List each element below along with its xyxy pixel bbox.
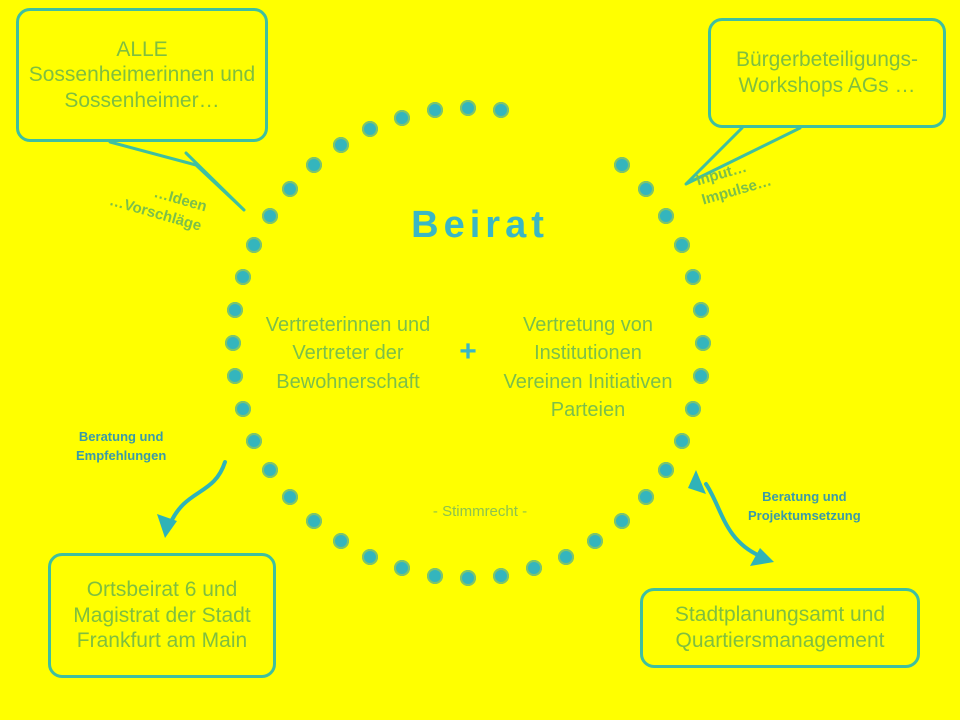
ring-dot <box>235 401 251 417</box>
ring-dot <box>333 137 349 153</box>
box-ortsbeirat-label: Ortsbeirat 6 und Magistrat der Stadt Fra… <box>51 575 273 656</box>
ring-dot <box>674 433 690 449</box>
ring-dot <box>460 100 476 116</box>
ring-dot <box>614 157 630 173</box>
box-stadtplanungsamt[interactable]: Stadtplanungsamt und Quartiersmanagement <box>640 588 920 668</box>
arrowhead-ring-side <box>688 470 706 494</box>
box-ortsbeirat[interactable]: Ortsbeirat 6 und Magistrat der Stadt Fra… <box>48 553 276 678</box>
column-bewohnerschaft: Vertreterinnen und Vertreter der Bewohne… <box>262 311 434 396</box>
ring-dot <box>695 335 711 351</box>
arrowhead-box-side <box>750 548 774 566</box>
diagram-canvas: Beirat Vertreterinnen und Vertreter der … <box>0 0 960 720</box>
ring-dot <box>333 533 349 549</box>
center-columns: Vertreterinnen und Vertreter der Bewohne… <box>262 311 674 425</box>
annotation-beratung-projektumsetzung: Beratung undProjektumsetzung <box>748 488 861 526</box>
ring-dot <box>362 549 378 565</box>
ring-dot <box>427 568 443 584</box>
box-stadtplanungsamt-label: Stadtplanungsamt und Quartiersmanagement <box>643 600 917 655</box>
ring-dot <box>225 335 241 351</box>
ring-dot <box>685 269 701 285</box>
ring-dot <box>493 102 509 118</box>
ring-dot <box>493 568 509 584</box>
ring-dot <box>246 433 262 449</box>
ring-dot <box>558 549 574 565</box>
annotation-beratung-empfehlungen: Beratung undEmpfehlungen <box>76 428 166 466</box>
callout-residents[interactable]: ALLE Sossenheimerinnen und Sossenheimer… <box>16 8 268 142</box>
callout-workshops-label: Bürgerbeteiligungs- Workshops AGs … <box>711 45 943 100</box>
ring-dot <box>693 302 709 318</box>
callout-workshops[interactable]: Bürgerbeteiligungs- Workshops AGs … <box>708 18 946 128</box>
ring-dot <box>235 269 251 285</box>
annotation-input-impulse: Input…Impulse… <box>694 152 774 211</box>
ring-dot <box>460 570 476 586</box>
ring-dot <box>227 302 243 318</box>
ring-dot <box>394 110 410 126</box>
ring-dot <box>306 157 322 173</box>
ring-dot <box>282 181 298 197</box>
column-institutionen: Vertretung von Institutionen Vereinen In… <box>502 311 674 425</box>
ring-dot <box>362 121 378 137</box>
ring-dot <box>427 102 443 118</box>
ring-dot <box>685 401 701 417</box>
callout-residents-label: ALLE Sossenheimerinnen und Sossenheimer… <box>19 35 265 116</box>
ring-dot <box>658 462 674 478</box>
ring-dot <box>526 560 542 576</box>
ring-dot <box>693 368 709 384</box>
plus-icon: + <box>446 337 490 367</box>
ring-dot <box>262 462 278 478</box>
ring-dot <box>638 181 654 197</box>
ring-dot <box>587 533 603 549</box>
ring-dot <box>227 368 243 384</box>
ring-dot <box>394 560 410 576</box>
